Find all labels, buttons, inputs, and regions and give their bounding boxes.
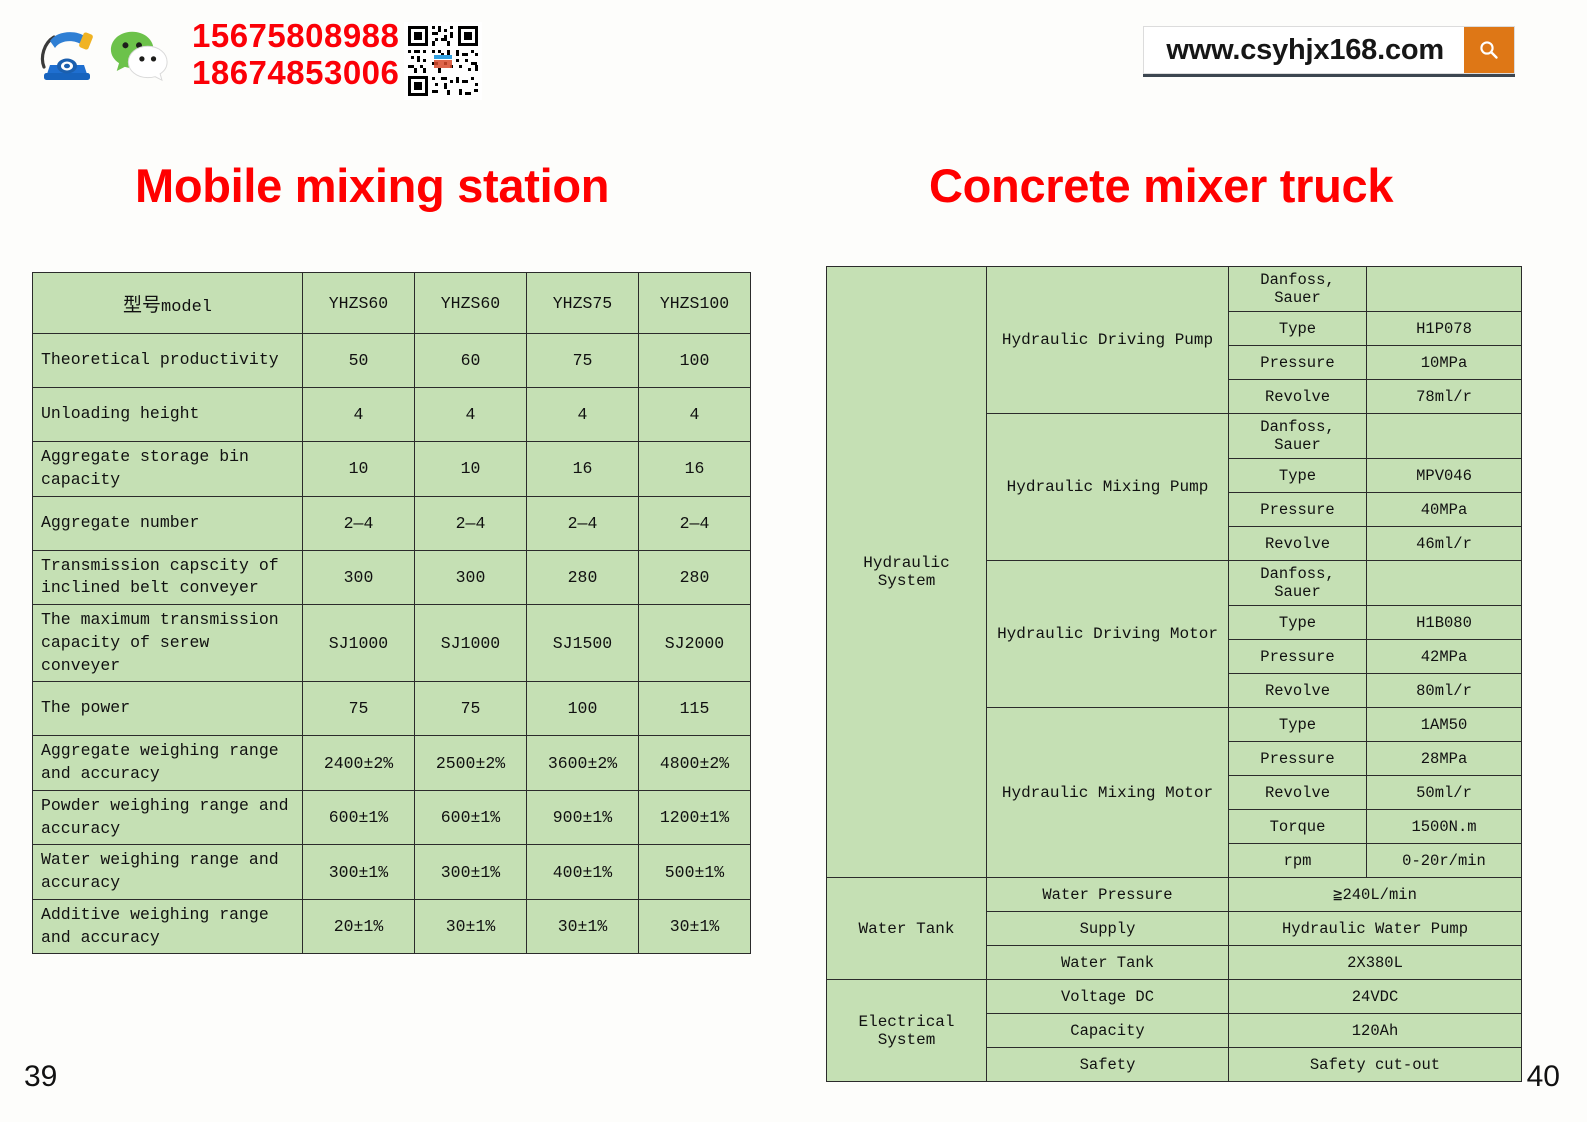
row-value: 600±1% xyxy=(415,790,527,845)
row-value: 50 xyxy=(303,334,415,388)
row-value: 115 xyxy=(639,682,751,736)
row-label: Unloading height xyxy=(33,388,303,442)
row-key: Water Pressure xyxy=(987,878,1229,912)
row-value: 120Ah xyxy=(1229,1014,1522,1048)
mobile-mixing-station-spec-table: 型号modelYHZS60YHZS60YHZS75YHZS100Theoreti… xyxy=(32,272,751,954)
row-value: 2X380L xyxy=(1229,946,1522,980)
row-key: rpm xyxy=(1229,844,1367,878)
table-row-header: 型号modelYHZS60YHZS60YHZS75YHZS100 xyxy=(33,273,751,334)
row-value: 2—4 xyxy=(415,496,527,550)
row-value xyxy=(1367,414,1522,459)
row-value: 10MPa xyxy=(1367,346,1522,380)
table-row: Aggregate number2—42—42—42—4 xyxy=(33,496,751,550)
column-header-model-value: YHZS60 xyxy=(415,273,527,334)
row-key: Revolve xyxy=(1229,674,1367,708)
row-key: Water Tank xyxy=(987,946,1229,980)
website-url-text: www.csyhjx168.com xyxy=(1144,27,1464,73)
table-left-body: 型号modelYHZS60YHZS60YHZS75YHZS100Theoreti… xyxy=(33,273,751,954)
page-title-left: Mobile mixing station xyxy=(135,158,609,213)
row-value: 0-20r/min xyxy=(1367,844,1522,878)
table-row: Additive weighing range and accuracy20±1… xyxy=(33,899,751,954)
row-key: Type xyxy=(1229,312,1367,346)
row-label: Transmission capscity of inclined belt c… xyxy=(33,550,303,605)
row-value: SJ1500 xyxy=(527,605,639,682)
row-label: The maximum transmission capacity of ser… xyxy=(33,605,303,682)
row-value: 50ml/r xyxy=(1367,776,1522,810)
row-value: 16 xyxy=(639,442,751,497)
row-value: Safety cut-out xyxy=(1229,1048,1522,1082)
concrete-mixer-truck-spec-table: Hydraulic SystemHydraulic Driving PumpDa… xyxy=(826,266,1522,1082)
row-label: The power xyxy=(33,682,303,736)
row-value: 900±1% xyxy=(527,790,639,845)
row-value: 4800±2% xyxy=(639,736,751,791)
row-value: Hydraulic Water Pump xyxy=(1229,912,1522,946)
row-key: Pressure xyxy=(1229,493,1367,527)
table-row: Water TankWater Pressure≧240L/min xyxy=(827,878,1522,912)
row-value: 4 xyxy=(303,388,415,442)
row-value: 10 xyxy=(303,442,415,497)
group-label: Electrical System xyxy=(827,980,987,1082)
row-value: 2—4 xyxy=(527,496,639,550)
row-value: 30±1% xyxy=(639,899,751,954)
qr-code-icon xyxy=(404,22,482,100)
row-value: 3600±2% xyxy=(527,736,639,791)
telephone-icon xyxy=(36,23,100,87)
row-label: Powder weighing range and accuracy xyxy=(33,790,303,845)
page-title-right: Concrete mixer truck xyxy=(929,158,1393,213)
column-header-model: 型号model xyxy=(33,273,303,334)
row-value: 30±1% xyxy=(415,899,527,954)
row-value: 20±1% xyxy=(303,899,415,954)
row-value: 2—4 xyxy=(303,496,415,550)
row-key: Type xyxy=(1229,606,1367,640)
column-header-model-value: YHZS75 xyxy=(527,273,639,334)
row-value: 30±1% xyxy=(527,899,639,954)
row-label: Aggregate storage bin capacity xyxy=(33,442,303,497)
row-key: Danfoss, Sauer xyxy=(1229,414,1367,459)
row-value: 24VDC xyxy=(1229,980,1522,1014)
row-value: 300 xyxy=(415,550,527,605)
row-value: 280 xyxy=(639,550,751,605)
table-right-body: Hydraulic SystemHydraulic Driving PumpDa… xyxy=(827,267,1522,1082)
search-icon xyxy=(1478,39,1500,61)
subgroup-label: Hydraulic Mixing Pump xyxy=(987,414,1229,561)
row-key: Safety xyxy=(987,1048,1229,1082)
row-value: 300±1% xyxy=(415,845,527,900)
row-key: Revolve xyxy=(1229,527,1367,561)
row-value: 60 xyxy=(415,334,527,388)
search-button[interactable] xyxy=(1464,27,1514,73)
row-value: 4 xyxy=(639,388,751,442)
row-key: Torque xyxy=(1229,810,1367,844)
row-value: 1AM50 xyxy=(1367,708,1522,742)
table-row: Powder weighing range and accuracy600±1%… xyxy=(33,790,751,845)
row-label: Aggregate number xyxy=(33,496,303,550)
table-row: The maximum transmission capacity of ser… xyxy=(33,605,751,682)
row-value: 28MPa xyxy=(1367,742,1522,776)
row-value: 4 xyxy=(415,388,527,442)
table-row: Transmission capscity of inclined belt c… xyxy=(33,550,751,605)
row-value: SJ2000 xyxy=(639,605,751,682)
row-label: Theoretical productivity xyxy=(33,334,303,388)
row-value: 100 xyxy=(639,334,751,388)
phone-primary: 15675808988 xyxy=(192,18,399,55)
row-value: 75 xyxy=(527,334,639,388)
row-value: 1500N.m xyxy=(1367,810,1522,844)
row-key: Supply xyxy=(987,912,1229,946)
row-label: Water weighing range and accuracy xyxy=(33,845,303,900)
row-value: 400±1% xyxy=(527,845,639,900)
row-value: 40MPa xyxy=(1367,493,1522,527)
row-value: 78ml/r xyxy=(1367,380,1522,414)
row-key: Pressure xyxy=(1229,742,1367,776)
row-value: H1P078 xyxy=(1367,312,1522,346)
row-value: 16 xyxy=(527,442,639,497)
row-value: 280 xyxy=(527,550,639,605)
phone-secondary: 18674853006 xyxy=(192,55,399,92)
table-row: Theoretical productivity506075100 xyxy=(33,334,751,388)
row-value: 4 xyxy=(527,388,639,442)
row-key: Danfoss, Sauer xyxy=(1229,561,1367,606)
phone-numbers: 15675808988 18674853006 xyxy=(192,18,399,92)
row-key: Voltage DC xyxy=(987,980,1229,1014)
row-label: Aggregate weighing range and accuracy xyxy=(33,736,303,791)
row-value: 75 xyxy=(303,682,415,736)
table-row: The power7575100115 xyxy=(33,682,751,736)
row-key: Danfoss, Sauer xyxy=(1229,267,1367,312)
row-value: 42MPa xyxy=(1367,640,1522,674)
row-value: 75 xyxy=(415,682,527,736)
row-value: 100 xyxy=(527,682,639,736)
row-value xyxy=(1367,267,1522,312)
wechat-icon xyxy=(108,24,170,86)
row-value: 2400±2% xyxy=(303,736,415,791)
group-label: Hydraulic System xyxy=(827,267,987,878)
row-key: Type xyxy=(1229,708,1367,742)
row-value: 2—4 xyxy=(639,496,751,550)
row-label: Additive weighing range and accuracy xyxy=(33,899,303,954)
row-value: 2500±2% xyxy=(415,736,527,791)
subgroup-label: Hydraulic Driving Pump xyxy=(987,267,1229,414)
page-number-left: 39 xyxy=(24,1060,57,1094)
row-value: 600±1% xyxy=(303,790,415,845)
row-value xyxy=(1367,561,1522,606)
contact-block: 15675808988 18674853006 xyxy=(36,18,399,92)
subgroup-label: Hydraulic Mixing Motor xyxy=(987,708,1229,878)
column-header-model-value: YHZS100 xyxy=(639,273,751,334)
row-value: ≧240L/min xyxy=(1229,878,1522,912)
table-row: Aggregate storage bin capacity10101616 xyxy=(33,442,751,497)
table-row: Hydraulic SystemHydraulic Driving PumpDa… xyxy=(827,267,1522,312)
table-row: Unloading height4444 xyxy=(33,388,751,442)
row-key: Revolve xyxy=(1229,776,1367,810)
subgroup-label: Hydraulic Driving Motor xyxy=(987,561,1229,708)
row-value: 300 xyxy=(303,550,415,605)
row-value: 1200±1% xyxy=(639,790,751,845)
row-value: 46ml/r xyxy=(1367,527,1522,561)
group-label: Water Tank xyxy=(827,878,987,980)
row-key: Pressure xyxy=(1229,346,1367,380)
website-url-bar[interactable]: www.csyhjx168.com xyxy=(1143,26,1515,74)
row-key: Revolve xyxy=(1229,380,1367,414)
page-header: 15675808988 18674853006 xyxy=(0,0,1587,120)
row-key: Capacity xyxy=(987,1014,1229,1048)
row-value: SJ1000 xyxy=(415,605,527,682)
column-header-model-value: YHZS60 xyxy=(303,273,415,334)
row-value: 10 xyxy=(415,442,527,497)
row-value: MPV046 xyxy=(1367,459,1522,493)
row-value: H1B080 xyxy=(1367,606,1522,640)
page-number-right: 40 xyxy=(1527,1060,1560,1094)
table-row: Aggregate weighing range and accuracy240… xyxy=(33,736,751,791)
row-value: SJ1000 xyxy=(303,605,415,682)
table-row: Electrical SystemVoltage DC24VDC xyxy=(827,980,1522,1014)
row-value: 300±1% xyxy=(303,845,415,900)
row-value: 80ml/r xyxy=(1367,674,1522,708)
row-value: 500±1% xyxy=(639,845,751,900)
row-key: Type xyxy=(1229,459,1367,493)
row-key: Pressure xyxy=(1229,640,1367,674)
table-row: Water weighing range and accuracy300±1%3… xyxy=(33,845,751,900)
